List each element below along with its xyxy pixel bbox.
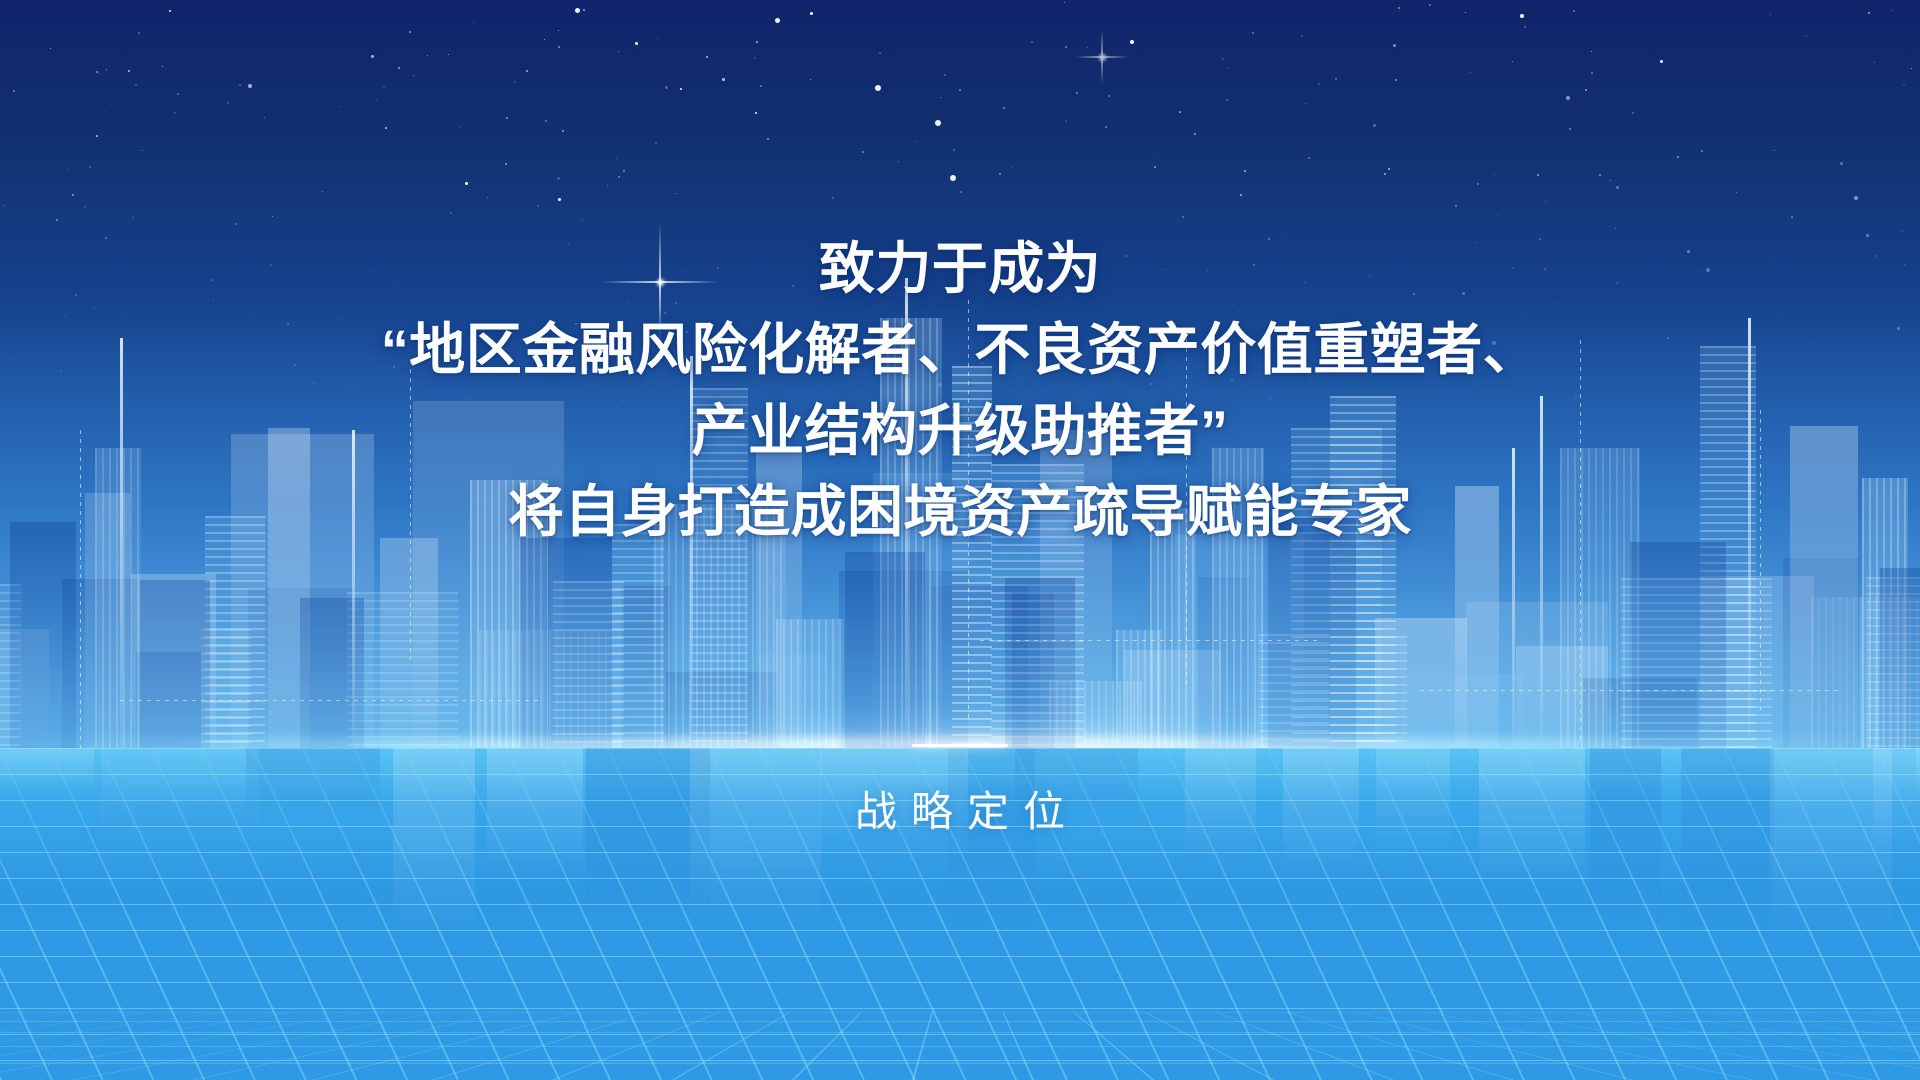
title-divider — [912, 744, 1008, 747]
headline-line-3: 产业结构升级助推者” — [0, 390, 1920, 471]
headline-line-4: 将自身打造成困境资产疏导赋能专家 — [0, 471, 1920, 552]
subtitle: 战略定位 — [0, 778, 1920, 839]
presentation-slide: 致力于成为 “地区金融风险化解者、不良资产价值重塑者、 产业结构升级助推者” 将… — [0, 0, 1920, 1080]
headline-line-2: “地区金融风险化解者、不良资产价值重塑者、 — [0, 309, 1920, 390]
headline: 致力于成为 “地区金融风险化解者、不良资产价值重塑者、 产业结构升级助推者” 将… — [0, 228, 1920, 552]
slide-content: 致力于成为 “地区金融风险化解者、不良资产价值重塑者、 产业结构升级助推者” 将… — [0, 0, 1920, 1080]
headline-line-1: 致力于成为 — [0, 228, 1920, 309]
